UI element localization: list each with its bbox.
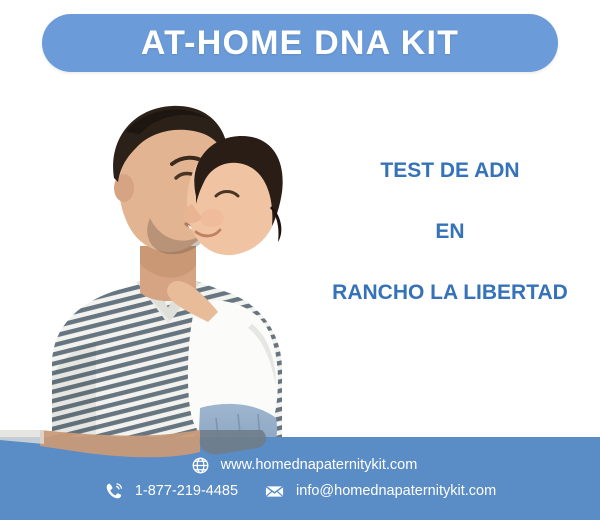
website-contact[interactable]: www.homednapaternitykit.com — [191, 456, 418, 475]
envelope-icon — [264, 481, 285, 502]
father-and-child-photo — [0, 78, 330, 478]
headline-line-3: RANCHO LA LIBERTAD — [300, 282, 600, 303]
headline-line-2: EN — [300, 221, 600, 242]
page-title: AT-HOME DNA KIT — [141, 26, 459, 60]
hero-photo — [0, 78, 330, 478]
website-label: www.homednapaternitykit.com — [221, 457, 418, 473]
headline-line-1: TEST DE ADN — [300, 160, 600, 181]
phone-contact[interactable]: 1-877-219-4485 — [104, 481, 238, 501]
headline-block: TEST DE ADN EN RANCHO LA LIBERTAD — [300, 160, 600, 303]
footer-row-phone-email: 1-877-219-4485 info@homednapaternitykit.… — [104, 481, 496, 502]
poster-root: AT-HOME DNA KIT — [0, 0, 600, 520]
email-label: info@homednapaternitykit.com — [296, 483, 496, 499]
header-banner: AT-HOME DNA KIT — [42, 14, 558, 72]
globe-icon — [191, 456, 210, 475]
phone-icon — [104, 481, 124, 501]
email-contact[interactable]: info@homednapaternitykit.com — [264, 481, 496, 502]
phone-label: 1-877-219-4485 — [135, 483, 238, 499]
footer-row-website: www.homednapaternitykit.com — [183, 456, 418, 475]
footer-contact-rows: www.homednapaternitykit.com 1-877-219-44… — [0, 437, 600, 520]
